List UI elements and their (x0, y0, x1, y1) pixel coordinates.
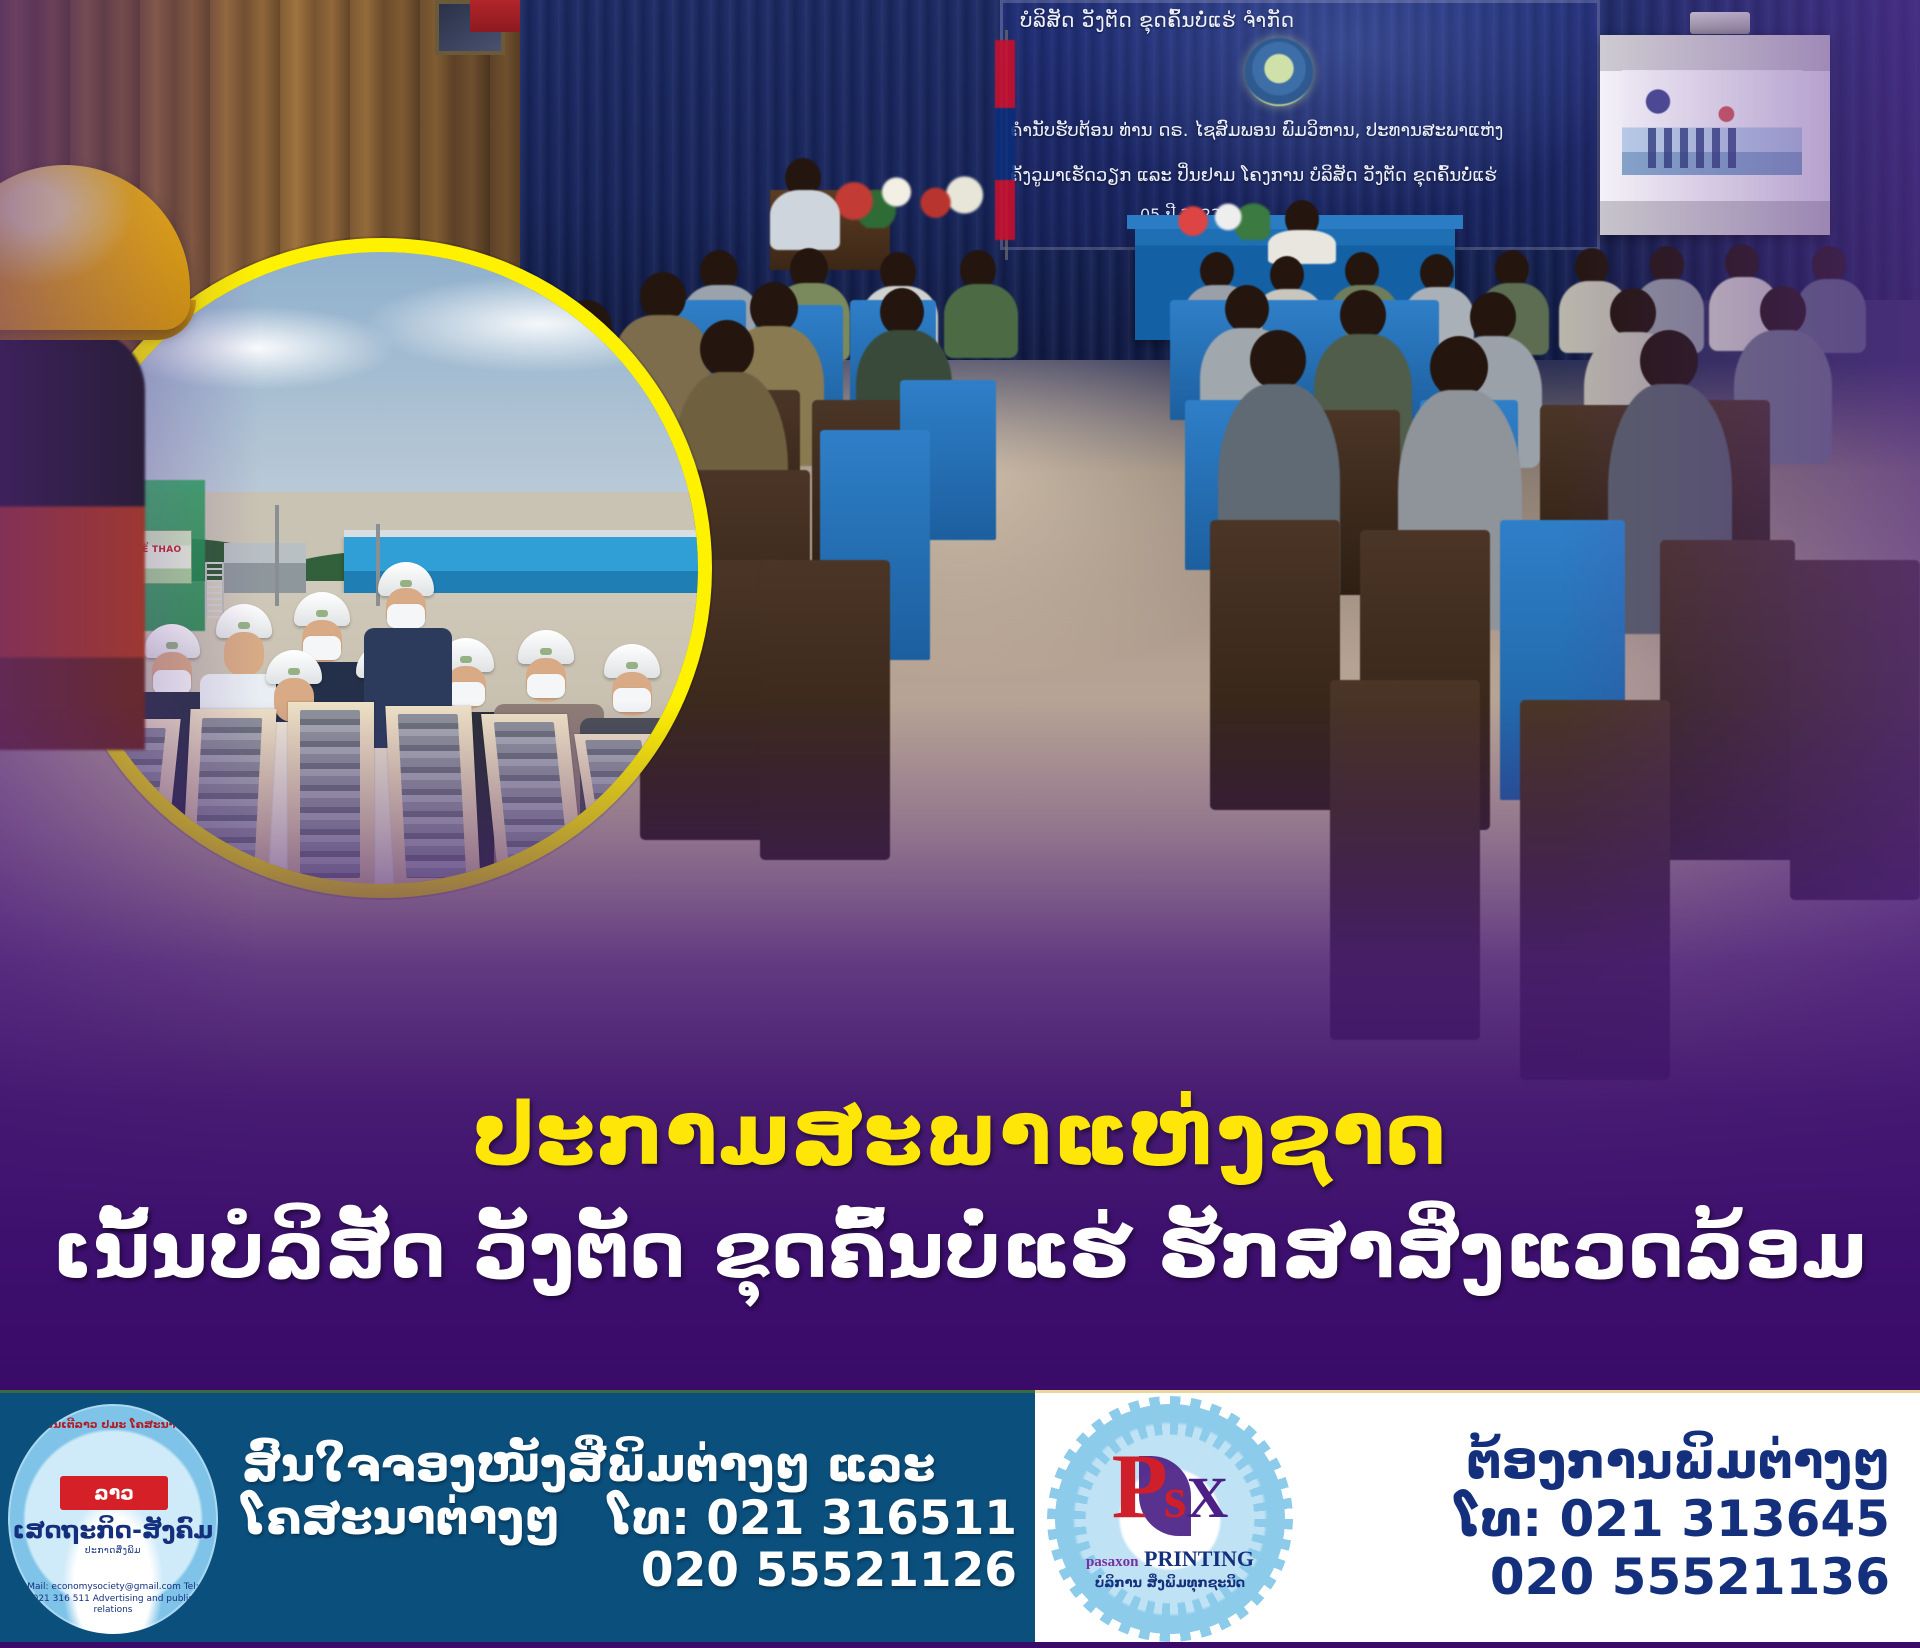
psx-wordmark: PsX (1055, 1440, 1285, 1532)
psx-letter-p: P (1112, 1435, 1164, 1537)
logo-sub-text: ປະກາດສິ່ງພິມ (8, 1546, 218, 1556)
backdrop-line-2: ຄັ້ງວູມາເຮັດວຽກ ແລະ ປິ່ນຢາມ ໂຄງການ ບໍລິສ… (1010, 165, 1497, 186)
banner-psx-printing[interactable]: PsX pasaxon PRINTING ບໍລິການ ສິ່ງພິມທຸກຊ… (1035, 1390, 1920, 1648)
banner-right-phone-1[interactable]: ໂທ: 021 313645 (1301, 1490, 1890, 1548)
banner-left-line-1: ສົນໃຈຈອງໜັງສືພິມຕ່າງໆ ແລະ (242, 1440, 1017, 1493)
logo-arc-bottom-text: Mail: economysociety@gmail.com Tel: 021 … (8, 1582, 218, 1616)
banner-left-phone-2[interactable]: 020 55521126 (242, 1545, 1017, 1598)
lao-national-flag-icon (995, 40, 1015, 240)
backdrop-line-1: ຄຳນັບຮັບຕ້ອນ ທ່ານ ດຣ. ໄຊສົມພອນ ພົມວິຫານ,… (1010, 120, 1503, 141)
banner-left-phone-1[interactable]: ໂທ: 021 316511 (608, 1493, 1017, 1546)
psx-printing-logo: PsX pasaxon PRINTING ບໍລິການ ສິ່ງພິມທຸກຊ… (1055, 1404, 1285, 1634)
flower-arrangement-left (820, 168, 990, 228)
bottom-banner-strip: ບໍລິສັດ ອິນເຕີລາວ ປມະ ໂຄສະນາ - ປະກາດສິ່ງ… (0, 1390, 1920, 1648)
projector-icon (1690, 12, 1750, 34)
banner-lao-economic-social[interactable]: ບໍລິສັດ ອິນເຕີລາວ ປມະ ໂຄສະນາ - ປະກາດສິ່ງ… (0, 1390, 1035, 1648)
company-seal-icon (1245, 38, 1313, 106)
psx-brand-main: PRINTING (1144, 1546, 1254, 1571)
poster-canvas: ສະພາແຫ່ງຊາດ ບໍລິສັດ ວັງຕັດ ຂຸດຄົ້ນບໍ່ແຮ່… (0, 0, 1920, 1648)
logo-arc-top-text: ບໍລິສັດ ອິນເຕີລາວ ປມະ ໂຄສະນາ - ປະກາດສິ່ງ… (8, 1418, 218, 1431)
speaker-body (770, 190, 840, 250)
bottom-purple-bar (0, 1642, 1920, 1648)
foreground-worker (0, 330, 145, 750)
psx-lao-subtitle: ບໍລິການ ສິ່ງພິມທຸກຊະນິດ (1055, 1576, 1285, 1591)
banner-right-line-1: ຕ້ອງການພິມຕ່າງໆ (1301, 1432, 1890, 1490)
banner-left-line-2: ໂຄສະນາຕ່າງໆ ໂທ: 021 316511 (242, 1493, 1017, 1546)
psx-letter-s: s (1164, 1465, 1187, 1530)
backdrop-company-line: ບໍລິສັດ ວັງຕັດ ຂຸດຄົ້ນບໍ່ແຮ່ ຈຳກັດ (1020, 8, 1294, 32)
banner-left-line-2a: ໂຄສະນາຕ່າງໆ (242, 1493, 560, 1546)
logo-main-text: ເສດຖະກິດ-ສັງຄົມ (8, 1516, 218, 1544)
psx-brand-small: pasaxon (1086, 1554, 1139, 1570)
psx-letter-x: X (1186, 1465, 1228, 1530)
banner-left-text-block: ສົນໃຈຈອງໜັງສືພິມຕ່າງໆ ແລະ ໂຄສະນາຕ່າງໆ ໂທ… (218, 1440, 1035, 1598)
headline-secondary: ເນັ້ນບໍລິສັດ ວັງຕັດ ຂຸດຄົ້ນບໍ່ແຮ່ ຮັກສາສ… (0, 1212, 1920, 1292)
banner-right-phone-2[interactable]: 020 55521136 (1301, 1548, 1890, 1606)
projector-slide-chart (1648, 128, 1738, 168)
banner-right-text-block: ຕ້ອງການພິມຕ່າງໆ ໂທ: 021 313645 020 55521… (1285, 1432, 1920, 1606)
logo-red-word: ລາວ (60, 1476, 168, 1510)
lao-economic-social-logo: ບໍລິສັດ ອິນເຕີລາວ ປມະ ໂຄສະນາ - ປະກາດສິ່ງ… (8, 1404, 218, 1634)
psx-brand-line: pasaxon PRINTING (1055, 1546, 1285, 1572)
flower-arrangement-right (1160, 198, 1270, 240)
headline-primary: ປະກາມສະພາແຫ່ງຊາດ (0, 1092, 1920, 1180)
